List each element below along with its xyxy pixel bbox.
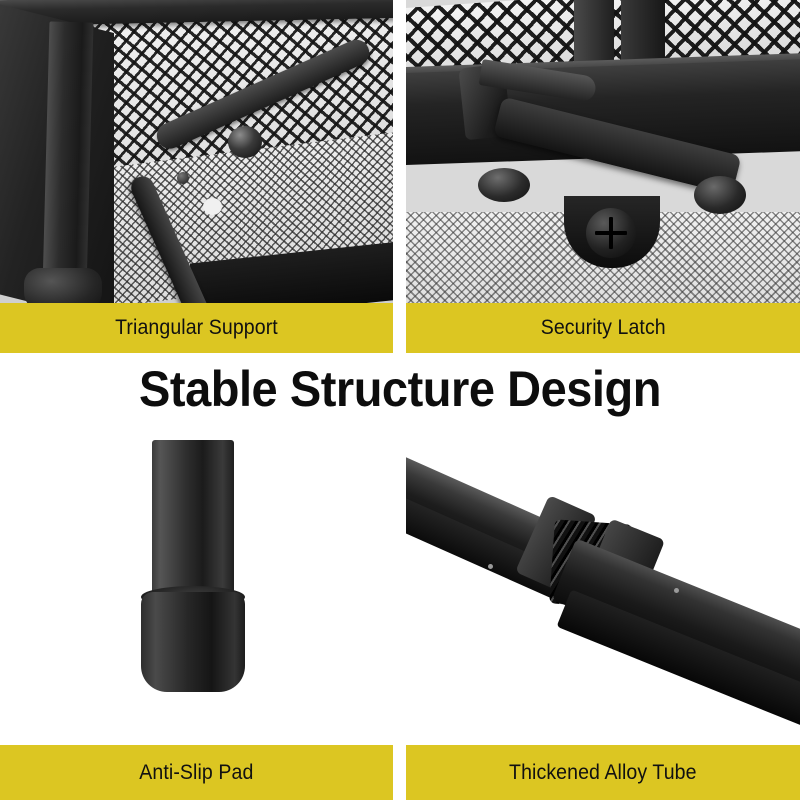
caption-bar-triangular-support: Triangular Support bbox=[0, 303, 393, 353]
caption-label-security-latch: Security Latch bbox=[540, 316, 665, 340]
latch-pin-left bbox=[478, 168, 530, 202]
brace-rivet bbox=[177, 172, 189, 184]
tube-pin-hole-lower bbox=[674, 588, 679, 593]
caption-label-thickened-alloy-tube: Thickened Alloy Tube bbox=[509, 761, 697, 785]
caption-label-triangular-support: Triangular Support bbox=[115, 316, 278, 340]
phillips-screw-icon bbox=[586, 208, 636, 258]
leg-foot bbox=[24, 268, 102, 303]
anti-slip-foot-cap bbox=[141, 592, 245, 692]
page-title: Stable Structure Design bbox=[24, 358, 776, 420]
table-leg bbox=[42, 21, 93, 290]
caption-bar-anti-slip-pad: Anti-Slip Pad bbox=[0, 745, 393, 800]
brace-hole bbox=[203, 198, 222, 215]
photo-security-latch bbox=[406, 0, 800, 303]
caption-bar-security-latch: Security Latch bbox=[406, 303, 800, 353]
caption-label-anti-slip-pad: Anti-Slip Pad bbox=[139, 761, 253, 785]
latch-pin-right bbox=[694, 176, 746, 214]
caption-bar-thickened-alloy-tube: Thickened Alloy Tube bbox=[406, 745, 800, 800]
tube-pin-hole-upper bbox=[488, 564, 493, 569]
product-feature-infographic: Triangular Support Security Latch Stable… bbox=[0, 0, 800, 800]
photo-thickened-alloy-tube bbox=[406, 440, 800, 745]
leg-tube bbox=[152, 440, 234, 608]
photo-triangular-support bbox=[0, 0, 393, 303]
photo-anti-slip-pad bbox=[0, 440, 393, 745]
brace-knob bbox=[228, 126, 262, 158]
